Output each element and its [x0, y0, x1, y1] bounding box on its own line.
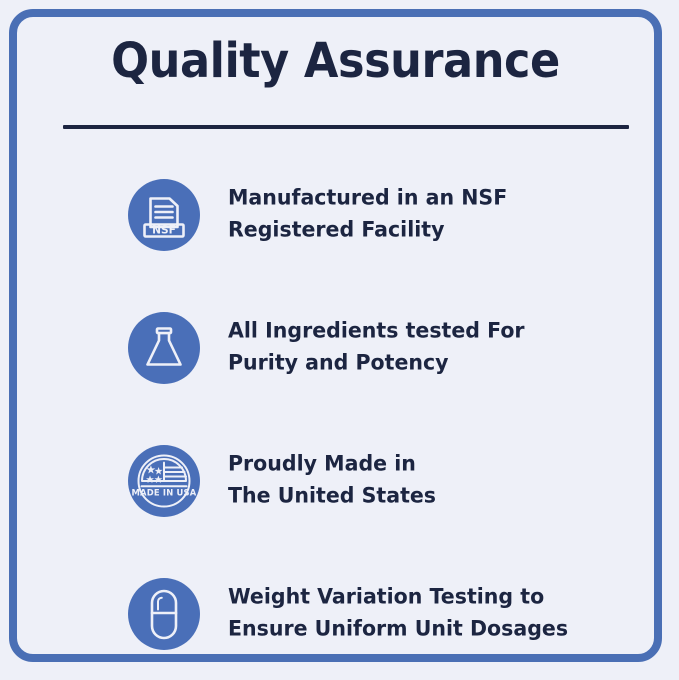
list-item-line1: Manufactured in an NSF [228, 182, 614, 215]
erlenmeyer-flask-icon [128, 312, 200, 384]
list-item: NSF Manufactured in an NSF Registered Fa… [17, 148, 654, 281]
made-in-usa-text: MADE IN USA [132, 487, 197, 497]
made-in-usa-badge-icon: MADE IN USA [128, 445, 200, 517]
list-item-label: Proudly Made in The United States [228, 448, 632, 513]
list-item-line2: Registered Facility [228, 215, 614, 248]
list-item-label: Manufactured in an NSF Registered Facili… [228, 182, 632, 247]
list-item-label: All Ingredients tested For Purity and Po… [228, 315, 632, 380]
list-item-line2: Purity and Potency [228, 348, 614, 381]
list-item-line1: All Ingredients tested For [228, 315, 614, 348]
list-item: MADE IN USA Proudly Made in The United S… [17, 414, 654, 547]
title-divider [63, 125, 629, 129]
list-item-line1: Weight Variation Testing to [228, 581, 614, 614]
list-item-line2: Ensure Uniform Unit Dosages [228, 614, 614, 647]
list-item: All Ingredients tested For Purity and Po… [17, 281, 654, 414]
card-content: Quality Assurance NSF [17, 17, 654, 654]
feature-list: NSF Manufactured in an NSF Registered Fa… [17, 148, 654, 680]
list-item-line1: Proudly Made in [228, 448, 614, 481]
list-item-label: Weight Variation Testing to Ensure Unifo… [228, 581, 632, 646]
nsf-badge-text: NSF [152, 224, 176, 236]
nsf-document-icon: NSF [128, 179, 200, 251]
list-item-line2: The United States [228, 481, 614, 514]
list-item: Weight Variation Testing to Ensure Unifo… [17, 547, 654, 680]
quality-assurance-card: Quality Assurance NSF [9, 9, 662, 662]
capsule-pill-icon [128, 578, 200, 650]
page-title: Quality Assurance [39, 35, 631, 89]
